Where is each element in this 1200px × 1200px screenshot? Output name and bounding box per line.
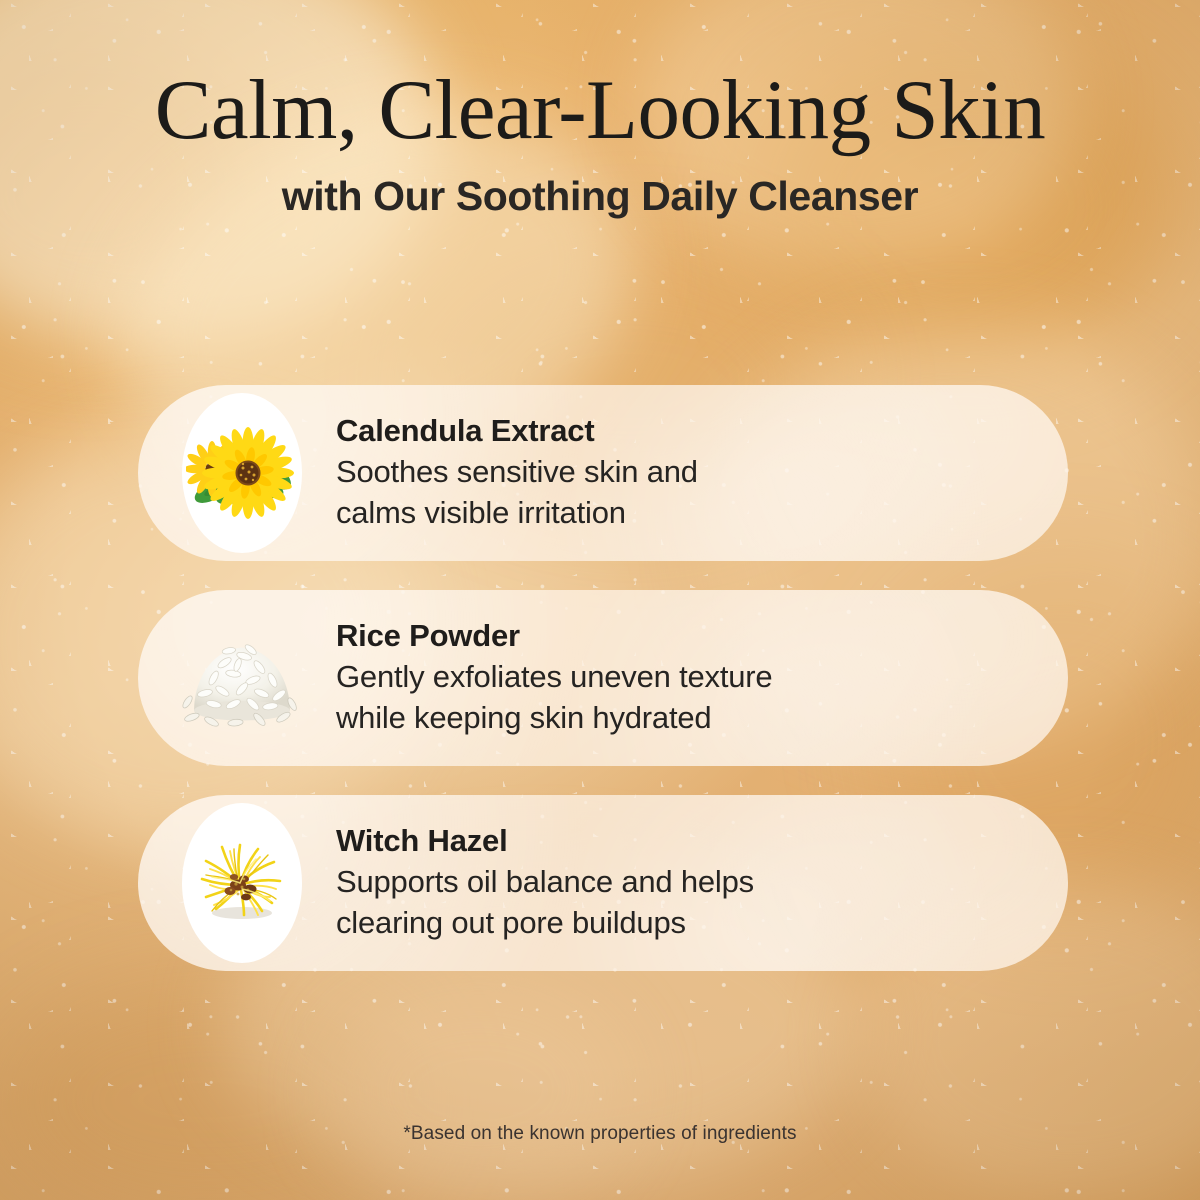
ingredient-list: Calendula Extract Soothes sensitive skin… [138,385,1068,1000]
ingredient-description: Gently exfoliates uneven texture while k… [336,657,772,738]
ingredient-text-block: Calendula Extract Soothes sensitive skin… [336,413,698,533]
ingredient-title: Witch Hazel [336,823,754,860]
header: Calm, Clear-Looking Skin with Our Soothi… [0,68,1200,218]
ingredient-description: Soothes sensitive skin and calms visible… [336,452,698,533]
ingredient-text-block: Witch Hazel Supports oil balance and hel… [336,823,754,943]
ingredient-card-rice-powder[interactable]: Rice Powder Gently exfoliates uneven tex… [138,590,1068,766]
ingredient-title: Calendula Extract [336,413,698,450]
page-subtitle: with Our Soothing Daily Cleanser [0,175,1200,218]
ingredient-text-block: Rice Powder Gently exfoliates uneven tex… [336,618,772,738]
ingredient-card-calendula[interactable]: Calendula Extract Soothes sensitive skin… [138,385,1068,561]
ingredient-description: Supports oil balance and helps clearing … [336,862,754,943]
disclaimer-text: *Based on the known properties of ingred… [0,1123,1200,1145]
page-title: Calm, Clear-Looking Skin [0,68,1200,153]
witch-hazel-flower-icon [186,827,298,939]
calendula-flower-icon [186,417,298,529]
ingredient-thumbnail-rice-powder [178,595,306,761]
ingredient-thumbnail-calendula [178,390,306,556]
rice-grains-icon [181,617,303,739]
ingredient-title: Rice Powder [336,618,772,655]
ingredient-thumbnail-witch-hazel [178,800,306,966]
ingredient-card-witch-hazel[interactable]: Witch Hazel Supports oil balance and hel… [138,795,1068,971]
